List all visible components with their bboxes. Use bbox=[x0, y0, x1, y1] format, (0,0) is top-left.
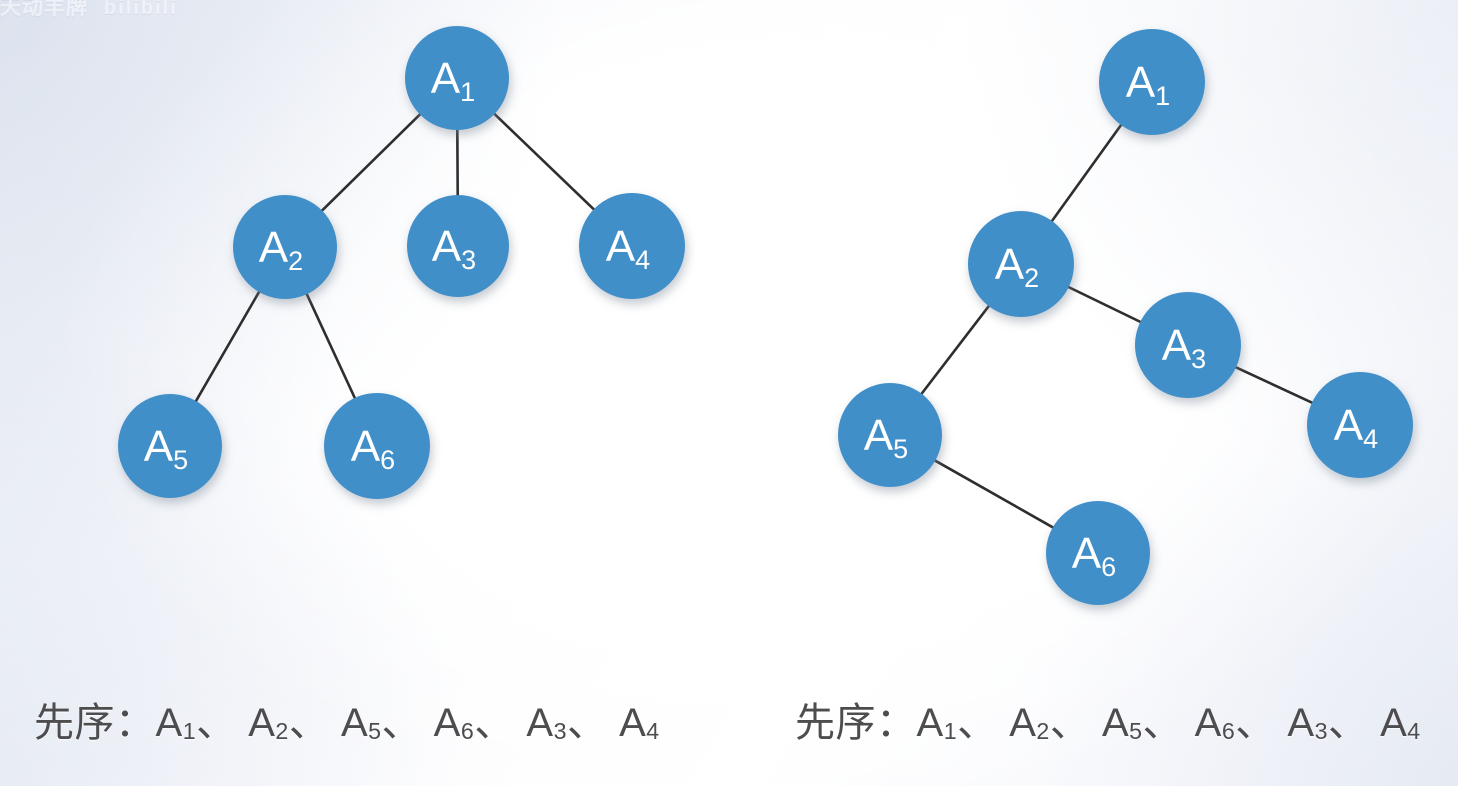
caption-prefix: 先序： bbox=[795, 701, 917, 745]
diagram-canvas: 天动羊牌 bilibili A1A2A3A4A5A6A1A2A3A4A5A6 先… bbox=[0, 0, 1458, 786]
caption-separator: 、 bbox=[567, 701, 619, 745]
tree-node-a3[interactable]: A3 bbox=[407, 195, 509, 297]
caption-sequence-item: A1 bbox=[156, 701, 197, 745]
tree-node-a2[interactable]: A2 bbox=[968, 211, 1074, 317]
caption-separator: 、 bbox=[196, 701, 248, 745]
caption-separator: 、 bbox=[1328, 701, 1380, 745]
tree-edge bbox=[1232, 366, 1315, 405]
caption-prefix: 先序： bbox=[34, 701, 156, 745]
caption-sequence-item: A2 bbox=[1009, 701, 1050, 745]
caption-sequence-item: A1 bbox=[917, 701, 958, 745]
tree-node-a6[interactable]: A6 bbox=[324, 393, 430, 499]
tree-node-a4[interactable]: A4 bbox=[1307, 372, 1413, 478]
tree-edge bbox=[1065, 285, 1144, 323]
caption-separator: 、 bbox=[382, 701, 434, 745]
tree-node-a1[interactable]: A1 bbox=[1099, 29, 1205, 135]
caption-sequence-item: A6 bbox=[1195, 701, 1236, 745]
tree-node-a5[interactable]: A5 bbox=[838, 383, 942, 487]
tree-edge bbox=[932, 459, 1057, 530]
tree-edge bbox=[1050, 122, 1124, 224]
tree-edge bbox=[305, 291, 356, 402]
tree-edge bbox=[492, 111, 597, 212]
tree-node-a3[interactable]: A3 bbox=[1135, 292, 1241, 398]
caption-sequence-item: A5 bbox=[1102, 701, 1143, 745]
caption-sequence-item: A3 bbox=[1287, 701, 1328, 745]
tree-node-a2[interactable]: A2 bbox=[233, 195, 337, 299]
caption-separator: 、 bbox=[1235, 701, 1287, 745]
nodes-layer: A1A2A3A4A5A6A1A2A3A4A5A6 bbox=[118, 26, 1413, 605]
caption-general-tree: 先序：A1、 A2、 A5、 A6、 A3、 A4 bbox=[34, 690, 660, 748]
caption-sequence-item: A6 bbox=[434, 701, 475, 745]
caption-binary-tree: 先序：A1、 A2、 A5、 A6、 A3、 A4 bbox=[795, 690, 1421, 748]
caption-sequence-item: A4 bbox=[1380, 701, 1421, 745]
tree-node-a6[interactable]: A6 bbox=[1046, 501, 1150, 605]
caption-separator: 、 bbox=[474, 701, 526, 745]
tree-node-a4[interactable]: A4 bbox=[579, 193, 685, 299]
caption-separator: 、 bbox=[289, 701, 341, 745]
tree-node-a1[interactable]: A1 bbox=[405, 26, 509, 130]
tree-node-a5[interactable]: A5 bbox=[118, 394, 222, 498]
tree-graphics: A1A2A3A4A5A6A1A2A3A4A5A6 bbox=[0, 0, 1458, 786]
tree-edge bbox=[319, 112, 423, 214]
caption-sequence-item: A2 bbox=[248, 701, 289, 745]
tree-edge bbox=[919, 303, 991, 397]
caption-separator: 、 bbox=[957, 701, 1009, 745]
caption-sequence-item: A4 bbox=[619, 701, 660, 745]
caption-sequence-item: A5 bbox=[341, 701, 382, 745]
caption-sequence-item: A3 bbox=[526, 701, 567, 745]
caption-separator: 、 bbox=[1050, 701, 1102, 745]
caption-separator: 、 bbox=[1143, 701, 1195, 745]
tree-edge bbox=[194, 289, 261, 405]
